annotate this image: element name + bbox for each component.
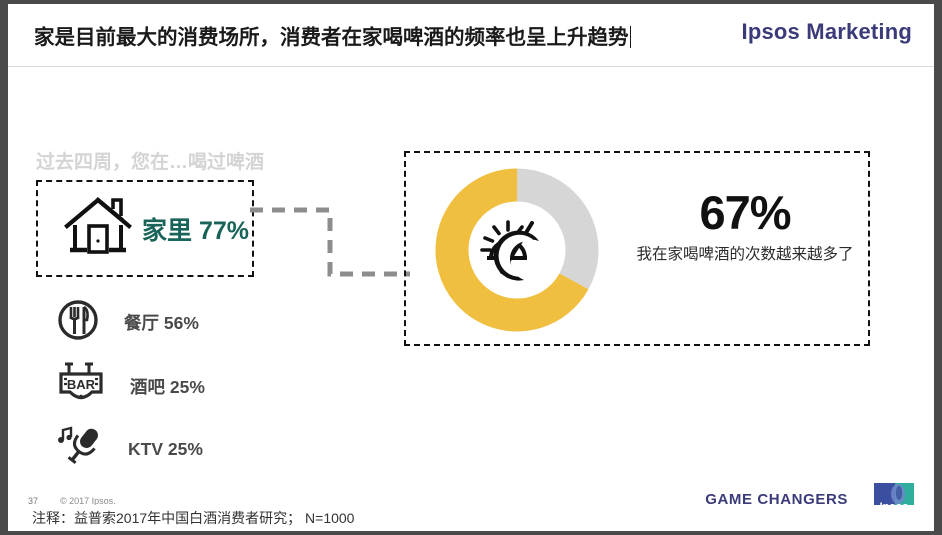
connector-line (248, 204, 412, 287)
text-caret (630, 26, 631, 48)
footnote-band: 注释：益普索2017年中国白酒消费者研究； N=1000 (8, 505, 934, 531)
highlight-card-row: 家里 77% (38, 182, 252, 275)
slide-header: 家是目前最大的消费场所，消费者在家喝啤酒的频率也呈上升趋势 Ipsos Mark… (8, 4, 934, 67)
insight-value: 67% (626, 189, 864, 236)
list-item-label: 餐厅 56% (124, 310, 199, 335)
karaoke-mic-icon (56, 424, 104, 475)
list-item-label: 酒吧 25% (130, 374, 205, 399)
insight-card[interactable]: 67% 我在家喝啤酒的次数越来越多了 (404, 151, 870, 346)
highlight-card-home[interactable]: 家里 77% (36, 180, 254, 277)
house-icon (64, 195, 132, 262)
restaurant-icon (56, 298, 100, 347)
footnote-text: 注释：益普索2017年中国白酒消费者研究； N=1000 (32, 508, 354, 528)
brand-wordmark: Ipsos Marketing (742, 19, 912, 45)
question-label: 过去四周，您在…喝过啤酒 (36, 147, 264, 174)
sun-moon-icon (477, 210, 557, 290)
list-item-ktv[interactable]: KTV 25% (56, 422, 203, 476)
insight-text-block: 67% 我在家喝啤酒的次数越来越多了 (626, 189, 864, 264)
list-item-restaurant[interactable]: 餐厅 56% (56, 295, 199, 349)
page-title-text: 家是目前最大的消费场所，消费者在家喝啤酒的频率也呈上升趋势 (34, 26, 629, 49)
list-item-bar[interactable]: BAR 酒吧 25% (56, 359, 205, 413)
list-item-label: KTV 25% (128, 439, 203, 460)
donut-chart (434, 167, 600, 333)
highlight-card-label: 家里 77% (142, 211, 249, 247)
slide-canvas: 家是目前最大的消费场所，消费者在家喝啤酒的频率也呈上升趋势 Ipsos Mark… (8, 4, 934, 524)
page-title: 家是目前最大的消费场所，消费者在家喝啤酒的频率也呈上升趋势 (34, 20, 631, 50)
slide-frame: 家是目前最大的消费场所，消费者在家喝啤酒的频率也呈上升趋势 Ipsos Mark… (0, 0, 942, 535)
svg-text:BAR: BAR (67, 377, 96, 392)
bar-sign-icon: BAR (56, 361, 106, 412)
insight-caption: 我在家喝啤酒的次数越来越多了 (626, 242, 864, 264)
